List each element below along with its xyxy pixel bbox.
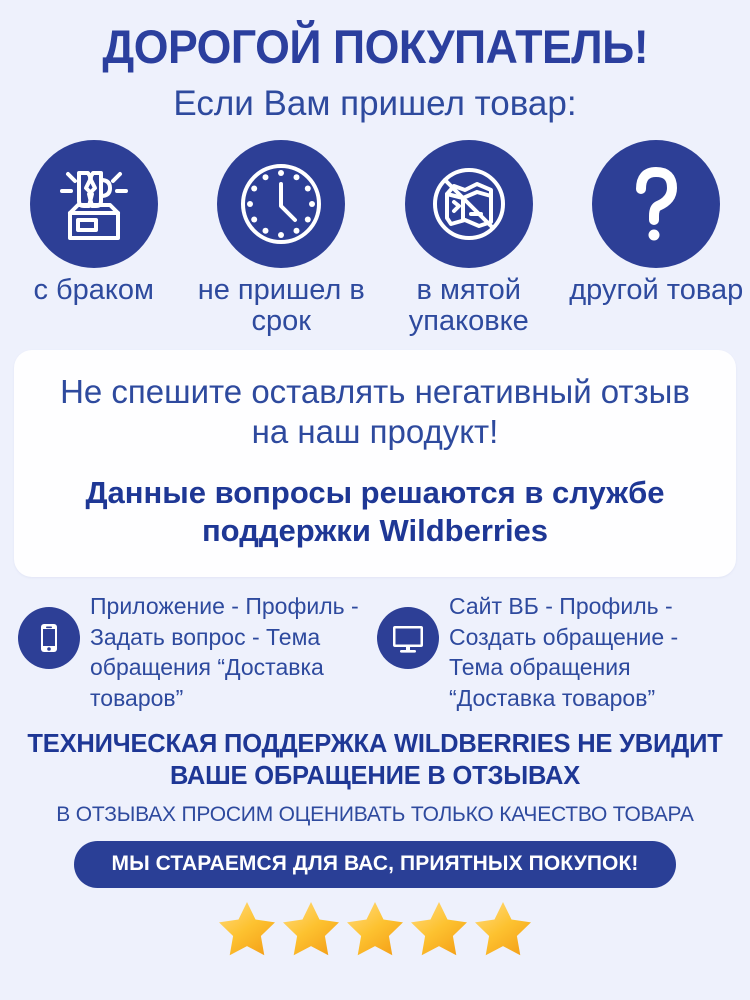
reason-item-defective: с браком (1, 140, 187, 306)
reason-label: с браком (33, 275, 154, 306)
reasons-row: с браком (0, 140, 750, 336)
reason-item-wrong-item: другой товар (563, 140, 749, 306)
star-icon (216, 898, 278, 956)
reason-label: другой товар (569, 275, 743, 306)
reason-label: не пришел в срок (188, 275, 374, 336)
instruction-website: Сайт ВБ - Профиль - Создать обращение - … (377, 591, 732, 713)
smartphone-icon (18, 607, 80, 669)
page-subtitle: Если Вам пришел товар: (173, 85, 576, 124)
instruction-app: Приложение - Профиль - Задать вопрос - Т… (18, 591, 373, 713)
advice-card: Не спешите оставлять негативный отзыв на… (14, 350, 736, 577)
advice-card-bold-text: Данные вопросы решаются в службе поддерж… (40, 474, 710, 552)
instruction-text: Приложение - Профиль - Задать вопрос - Т… (90, 591, 373, 713)
instruction-text: Сайт ВБ - Профиль - Создать обращение - … (449, 591, 732, 713)
reason-item-damaged-package: в мятой упаковке (376, 140, 562, 336)
cta-button[interactable]: МЫ СТАРАЕМСЯ ДЛЯ ВАС, ПРИЯТНЫХ ПОКУПОК! (74, 841, 676, 888)
promo-banner: ДОРОГОЙ ПОКУПАТЕЛЬ! Если Вам пришел това… (0, 0, 750, 1000)
instructions-row: Приложение - Профиль - Задать вопрос - Т… (0, 591, 750, 713)
star-icon (472, 898, 534, 956)
clock-icon (217, 140, 345, 268)
star-icon (408, 898, 470, 956)
advice-card-light-text: Не спешите оставлять негативный отзыв на… (40, 372, 710, 451)
question-mark-icon (592, 140, 720, 268)
reason-label: в мятой упаковке (376, 275, 562, 336)
page-title: ДОРОГОЙ ПОКУПАТЕЛЬ! (102, 22, 648, 71)
desktop-monitor-icon (377, 607, 439, 669)
star-icon (344, 898, 406, 956)
no-crumpled-package-icon (405, 140, 533, 268)
reason-item-late: не пришел в срок (188, 140, 374, 336)
support-notice-bold: ТЕХНИЧЕСКАЯ ПОДДЕРЖКА WILDBERRIES НЕ УВИ… (25, 729, 725, 792)
rating-stars (216, 898, 534, 956)
support-notice-light: В ОТЗЫВАХ ПРОСИМ ОЦЕНИВАТЬ ТОЛЬКО КАЧЕСТ… (5, 802, 745, 827)
broken-cup-in-box-icon (30, 140, 158, 268)
star-icon (280, 898, 342, 956)
